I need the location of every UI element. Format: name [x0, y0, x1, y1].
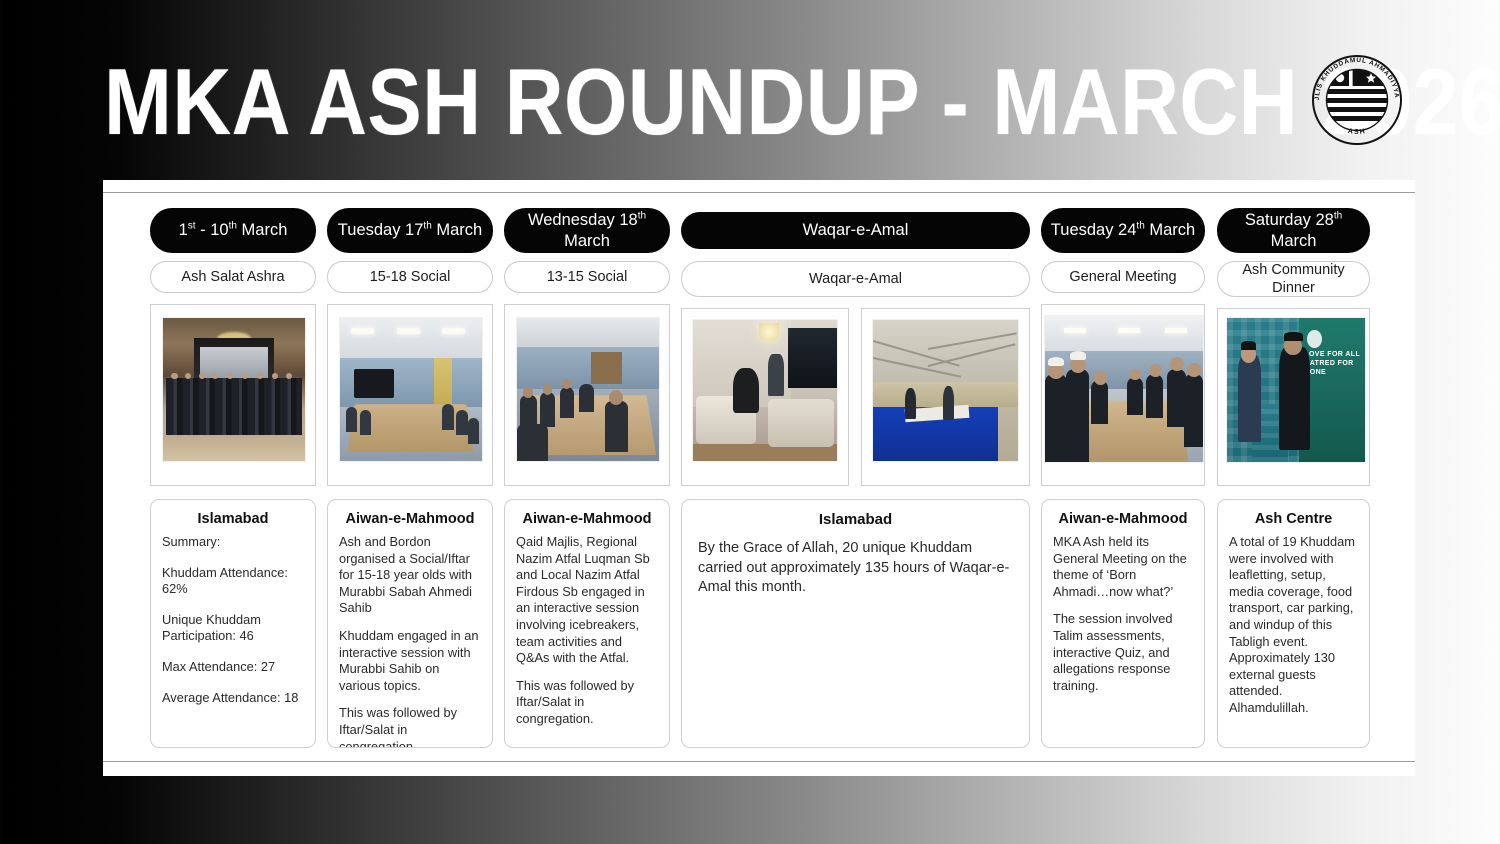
photo-social-15-18: [339, 317, 483, 462]
activity-board: 1st - 10th March Ash Salat Ashra: [150, 208, 1370, 748]
banner-text: LOVE FOR ALL HATRED FOR NONE: [1304, 350, 1365, 377]
photo-card-waqar-2[interactable]: [861, 308, 1030, 486]
subtitle-pill-general-meeting[interactable]: General Meeting: [1041, 261, 1205, 293]
paragraph: Qaid Majlis, Regional Nazim Atfal Luqman…: [516, 534, 658, 667]
date-pill-general-meeting[interactable]: Tuesday 24th March: [1041, 208, 1205, 253]
venue-label: Aiwan-e-Mahmood: [1053, 510, 1193, 528]
date-pill-label: Wednesday 18th March: [512, 210, 662, 252]
column-waqar-e-amal: Waqar-e-Amal Waqar-e-Amal: [681, 208, 1030, 748]
venue-label: Islamabad: [162, 510, 304, 528]
venue-label: Aiwan-e-Mahmood: [339, 510, 481, 528]
date-pill-salat-ashra[interactable]: 1st - 10th March: [150, 208, 316, 253]
subtitle-pill-waqar-e-amal[interactable]: Waqar-e-Amal: [681, 261, 1030, 297]
column-general-meeting: Tuesday 24th March General Meeting: [1041, 208, 1205, 748]
photo-card-waqar-1[interactable]: [681, 308, 849, 486]
column-salat-ashra: 1st - 10th March Ash Salat Ashra: [150, 208, 316, 748]
paragraph: Ash and Bordon organised a Social/Iftar …: [339, 534, 481, 617]
paragraph: The session involved Talim assessments, …: [1053, 611, 1193, 694]
summary-body: Ash and Bordon organised a Social/Iftar …: [339, 534, 481, 748]
photo-waqar-furniture: [692, 319, 838, 462]
slide-content-panel: 1st - 10th March Ash Salat Ashra: [103, 180, 1415, 776]
subtitle-pill-community-dinner[interactable]: Ash Community Dinner: [1217, 261, 1370, 297]
page-title: MKA ASH ROUNDUP - MARCH 2026: [104, 48, 1500, 156]
subtitle-label: Ash Community Dinner: [1224, 261, 1363, 297]
paragraph: MKA Ash held its General Meeting on the …: [1053, 534, 1193, 600]
mka-ash-logo-icon: MAJLIS KHUDDAMUL AHMADIYYA UK ASH: [1305, 48, 1409, 152]
svg-text:ASH: ASH: [1347, 128, 1367, 136]
text-card-community-dinner[interactable]: Ash Centre A total of 19 Khuddam were in…: [1217, 499, 1370, 748]
date-pill-label: 1st - 10th March: [179, 220, 288, 241]
photo-community-dinner: LOVE FOR ALL HATRED FOR NONE: [1226, 317, 1366, 463]
paragraph: Khuddam Attendance: 62%: [162, 565, 304, 598]
photo-card-social-15-18[interactable]: [327, 304, 493, 486]
divider-top: [103, 192, 1415, 193]
photo-social-13-15: [516, 317, 660, 462]
column-social-13-15: Wednesday 18th March 13-15 Social: [504, 208, 670, 748]
summary-body: Qaid Majlis, Regional Nazim Atfal Luqman…: [516, 534, 658, 728]
venue-label: Ash Centre: [1229, 510, 1358, 528]
text-card-waqar-e-amal[interactable]: Islamabad By the Grace of Allah, 20 uniq…: [681, 499, 1030, 748]
date-pill-label: Waqar-e-Amal: [803, 220, 909, 241]
date-pill-social-15-18[interactable]: Tuesday 17th March: [327, 208, 493, 253]
date-pill-label: Tuesday 24th March: [1051, 220, 1195, 241]
summary-body: By the Grace of Allah, 20 unique Khuddam…: [698, 539, 1013, 598]
paragraph: Average Attendance: 18: [162, 690, 304, 707]
summary-body: A total of 19 Khuddam were involved with…: [1229, 534, 1358, 717]
photo-card-general-meeting[interactable]: [1041, 304, 1205, 486]
photo-card-social-13-15[interactable]: [504, 304, 670, 486]
text-card-social-13-15[interactable]: Aiwan-e-Mahmood Qaid Majlis, Regional Na…: [504, 499, 670, 748]
summary-body: Summary: Khuddam Attendance: 62% Unique …: [162, 534, 304, 706]
photo-general-meeting: [1044, 315, 1204, 463]
paragraph: A total of 19 Khuddam were involved with…: [1229, 534, 1358, 717]
subtitle-label: General Meeting: [1069, 268, 1176, 286]
column-community-dinner: Saturday 28th March Ash Community Dinner…: [1217, 208, 1370, 748]
date-pill-social-13-15[interactable]: Wednesday 18th March: [504, 208, 670, 253]
subtitle-label: 15-18 Social: [370, 268, 451, 286]
paragraph: Unique Khuddam Participation: 46: [162, 612, 304, 645]
text-card-salat-ashra[interactable]: Islamabad Summary: Khuddam Attendance: 6…: [150, 499, 316, 748]
date-pill-community-dinner[interactable]: Saturday 28th March: [1217, 208, 1370, 253]
paragraph: By the Grace of Allah, 20 unique Khuddam…: [698, 539, 1013, 598]
subtitle-pill-salat-ashra[interactable]: Ash Salat Ashra: [150, 261, 316, 293]
photo-salat-ashra: [162, 317, 306, 462]
subtitle-pill-social-13-15[interactable]: 13-15 Social: [504, 261, 670, 293]
slide-header: MKA ASH ROUNDUP - MARCH 2026: [0, 0, 1500, 180]
paragraph: This was followed by Iftar/Salat in cong…: [339, 705, 481, 748]
paragraph: Max Attendance: 27: [162, 659, 304, 676]
photo-card-community-dinner[interactable]: LOVE FOR ALL HATRED FOR NONE: [1217, 308, 1370, 486]
venue-label: Islamabad: [698, 511, 1013, 529]
paragraph: Khuddam engaged in an interactive sessio…: [339, 628, 481, 694]
subtitle-label: Ash Salat Ashra: [181, 268, 284, 286]
paragraph: Summary:: [162, 534, 304, 551]
subtitle-pill-social-15-18[interactable]: 15-18 Social: [327, 261, 493, 293]
date-pill-label: Tuesday 17th March: [338, 220, 482, 241]
text-card-general-meeting[interactable]: Aiwan-e-Mahmood MKA Ash held its General…: [1041, 499, 1205, 748]
subtitle-label: Waqar-e-Amal: [809, 270, 902, 288]
text-card-social-15-18[interactable]: Aiwan-e-Mahmood Ash and Bordon organised…: [327, 499, 493, 748]
column-social-15-18: Tuesday 17th March 15-18 Social: [327, 208, 493, 748]
photo-waqar-marquee: [872, 319, 1019, 462]
summary-body: MKA Ash held its General Meeting on the …: [1053, 534, 1193, 694]
subtitle-label: 13-15 Social: [547, 268, 628, 286]
date-pill-waqar-e-amal[interactable]: Waqar-e-Amal: [681, 212, 1030, 249]
paragraph: This was followed by Iftar/Salat in cong…: [516, 678, 658, 728]
photo-card-salat-ashra[interactable]: [150, 304, 316, 486]
venue-label: Aiwan-e-Mahmood: [516, 510, 658, 528]
date-pill-label: Saturday 28th March: [1225, 210, 1362, 252]
divider-bottom: [103, 761, 1415, 762]
